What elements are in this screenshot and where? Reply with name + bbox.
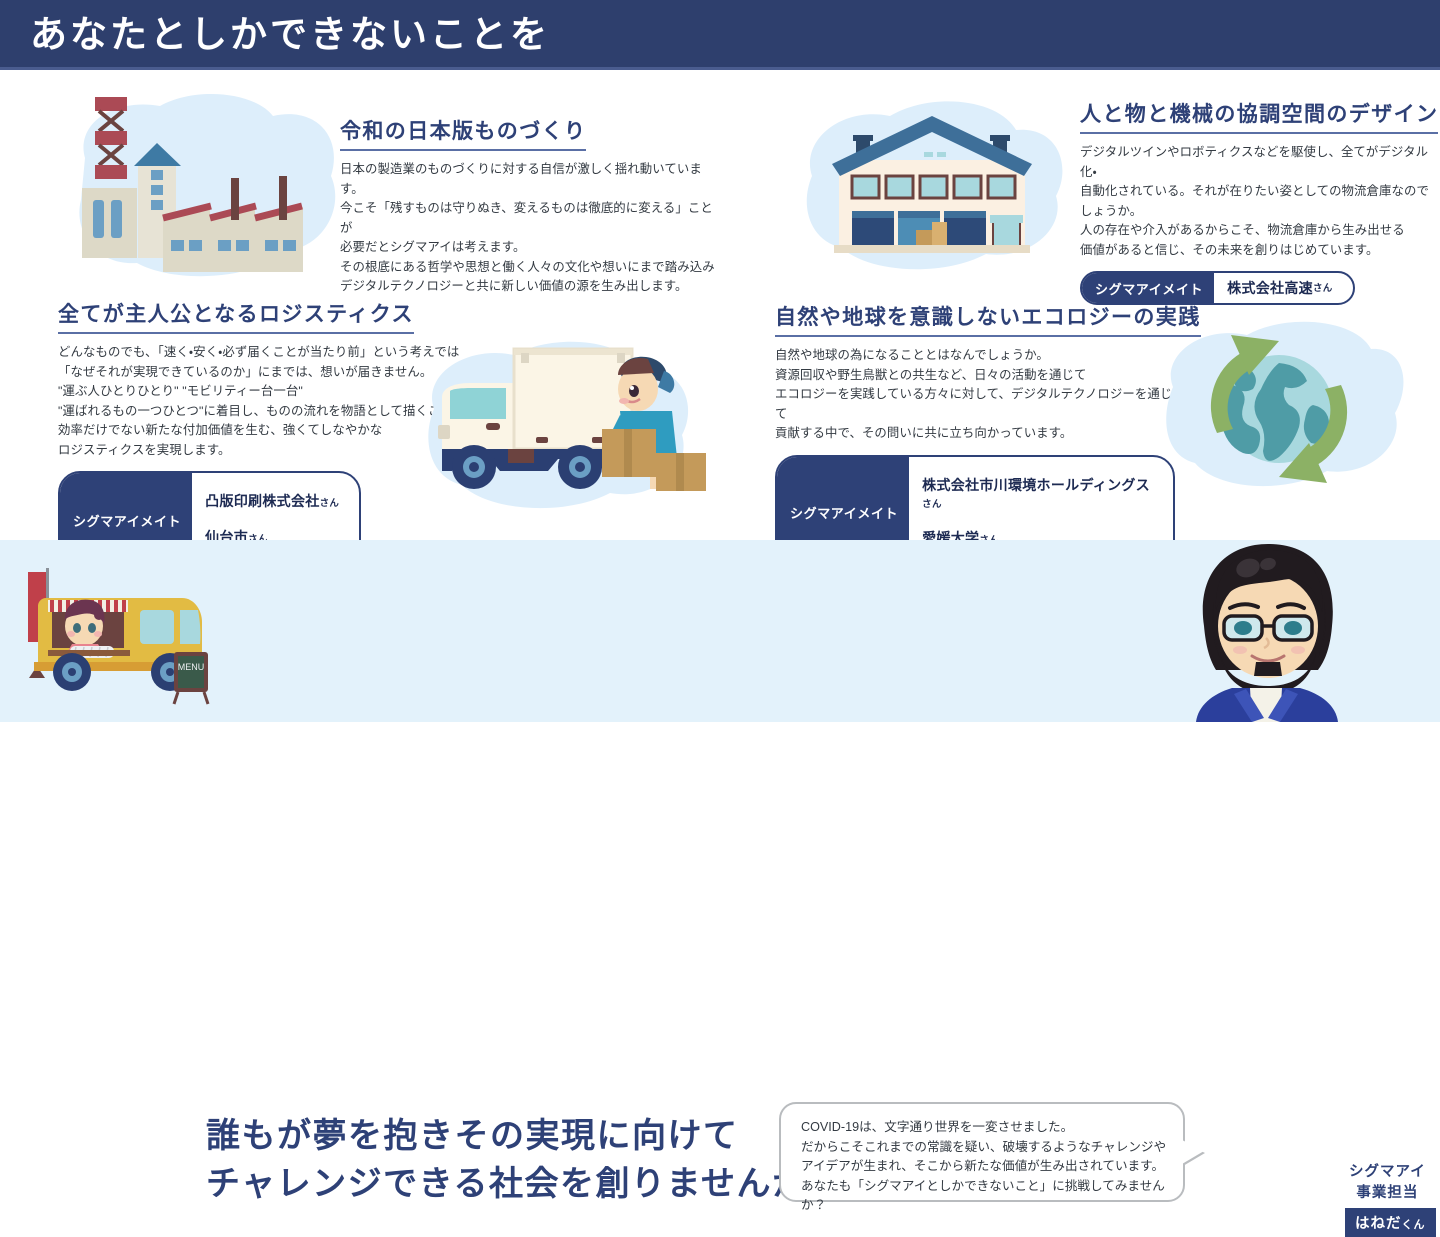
section-heading: 令和の日本版ものづくり [340,115,586,151]
character-name: はねだ [1355,1216,1402,1232]
section-body: デジタルツインやロボティクスなどを駆使し、全てがデジタル化・ 自動化されている。… [1080,143,1430,260]
speech-bubble-text: COVID-19は、文字通り世界を一変させました。 だからこそこれまでの常識を疑… [781,1104,1183,1216]
avatar-haneda [1186,542,1346,722]
section-monozukuri: 令和の日本版ものづくり 日本の製造業のものづくりに対する自信が激しく揺れ動いてい… [340,115,720,297]
speech-bubble-tail [1182,1140,1204,1164]
partner-name-1: 凸版印刷株式会社 [205,493,319,509]
section-heading: 自然や地球を意識しないエコロジーの実践 [775,301,1201,337]
menu-board-text: MENU [178,662,205,672]
mate-badge[interactable]: シグマアイメイト 株式会社高速さん [1080,271,1355,305]
section-body: 自然や地球の為になることとはなんでしょうか。 資源回収や野生鳥獣との共生など、日… [775,346,1175,444]
food-truck-illustration: MENU [14,558,214,708]
character-name-suffix: くん [1402,1219,1426,1231]
page-title: あなたとしかできないことを [30,11,550,59]
page-header: あなたとしかできないことを [0,0,1440,70]
main-content: 令和の日本版ものづくり 日本の製造業のものづくりに対する自信が激しく揺れ動いてい… [0,73,1440,540]
partner-name: 株式会社高速 [1227,280,1313,297]
delivery-truck-illustration [408,331,708,516]
section-heading: 全てが主人公となるロジスティクス [58,298,414,334]
character-role-line1: シグマアイ [1349,1164,1426,1180]
bottom-banner: MENU 誰もが夢を抱きその実現に向けて チャレンジできる社会を創りませんか？ … [0,540,1440,722]
factory-illustration [55,88,345,288]
banner-slogan: 誰もが夢を抱きその実現に向けて チャレンジできる社会を創りませんか？ [206,1112,843,1208]
section-kyocho-kukan: 人と物と機械の協調空間のデザイン デジタルツインやロボティクスなどを駆使し、全て… [1080,98,1430,305]
speech-bubble: COVID-19は、文字通り世界を一変させました。 だからこそこれまでの常識を疑… [779,1102,1185,1202]
honorific-suffix: さん [320,498,340,509]
section-body: 日本の製造業のものづくりに対する自信が激しく揺れ動いています。 今こそ「残すもの… [340,160,720,297]
mate-badge-label: シグマアイメイト [1082,273,1214,303]
honorific-suffix: さん [922,499,942,510]
character-role-line2: 事業担当 [1356,1185,1418,1201]
honorific-suffix: さん [1313,280,1333,297]
section-heading: 人と物と機械の協調空間のデザイン [1080,98,1438,134]
mate-badge-partner: 株式会社高速さん [1214,273,1352,303]
section-ecology: 自然や地球を意識しないエコロジーの実践 自然や地球の為になることとはなんでしょう… [775,301,1175,571]
partner-name-1: 株式会社市川環境ホールディングス [922,477,1150,493]
recycling-earth-illustration [1155,313,1405,508]
character-role: シグマアイ 事業担当 [1349,1162,1426,1204]
warehouse-illustration [790,88,1070,283]
character-name-badge: はねだくん [1345,1208,1436,1237]
